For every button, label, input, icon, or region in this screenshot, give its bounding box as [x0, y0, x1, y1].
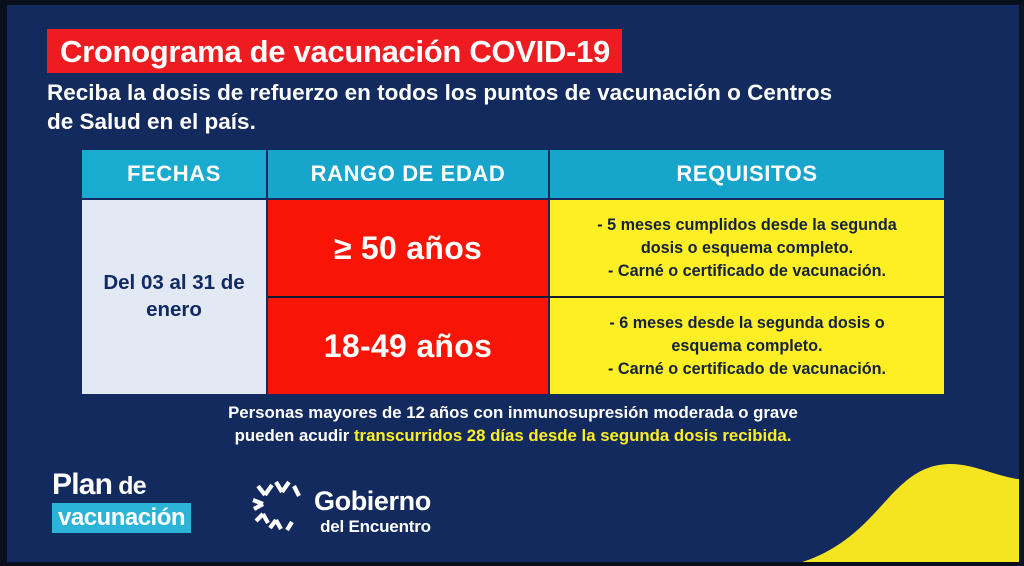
footer-note-line-1: Personas mayores de 12 años con inmunosu… [82, 402, 944, 425]
logo-plan-word-plan: Plan [52, 468, 112, 501]
logo-plan-line-1: Plan de [52, 470, 191, 500]
yellow-blob-decoration [784, 436, 1024, 566]
requirement-line: - Carné o certificado de vacunación. [608, 358, 886, 381]
dates-cell: Del 03 al 31 de enero [82, 200, 266, 394]
page-title: Cronograma de vacunación COVID-19 [60, 36, 610, 67]
image-edge-left [0, 0, 7, 566]
table-rows-container: ≥ 50 años - 5 meses cumplidos desde la s… [268, 200, 944, 394]
subtitle-text: Reciba la dosis de refuerzo en todos los… [47, 79, 857, 137]
age-range-cell: ≥ 50 años [268, 200, 548, 296]
table-row: 18-49 años - 6 meses desde la segunda do… [268, 296, 944, 394]
footer-note-plain: pueden acudir [235, 426, 354, 445]
sunburst-icon [250, 476, 308, 538]
image-edge-top [0, 0, 1024, 5]
table-row: ≥ 50 años - 5 meses cumplidos desde la s… [268, 200, 944, 296]
table-header-row: FECHAS RANGO DE EDAD REQUISITOS [82, 150, 944, 198]
logo-gobierno-text: Gobierno del Encuentro [314, 474, 431, 535]
footer-note-line-2: pueden acudir transcurridos 28 días desd… [82, 425, 944, 448]
column-header-rango-de-edad: RANGO DE EDAD [268, 150, 548, 198]
column-header-requisitos: REQUISITOS [550, 150, 944, 198]
logo-gobierno-line-1: Gobierno [314, 488, 431, 515]
column-header-fechas: FECHAS [82, 150, 266, 198]
dates-cell-text: Del 03 al 31 de enero [82, 270, 266, 323]
requirement-line: esquema completo. [671, 335, 822, 358]
requirement-line: - 6 meses desde la segunda dosis o [609, 312, 884, 335]
footer-note: Personas mayores de 12 años con inmunosu… [82, 402, 944, 447]
requirements-cell: - 5 meses cumplidos desde la segunda dos… [550, 200, 944, 296]
title-banner: Cronograma de vacunación COVID-19 [47, 29, 622, 73]
requirements-cell: - 6 meses desde la segunda dosis o esque… [550, 298, 944, 394]
poster-canvas: Cronograma de vacunación COVID-19 Reciba… [0, 0, 1024, 566]
requirement-line: dosis o esquema completo. [641, 237, 853, 260]
table-body: Del 03 al 31 de enero ≥ 50 años - 5 mese… [82, 200, 944, 394]
age-range-cell: 18-49 años [268, 298, 548, 394]
logo-gobierno-line-2: del Encuentro [314, 518, 431, 535]
logo-plan-line-2: vacunación [52, 503, 191, 533]
logo-plan-word-de: de [112, 472, 146, 500]
logo-plan-de-vacunacion: Plan de vacunación [52, 470, 191, 533]
schedule-table: FECHAS RANGO DE EDAD REQUISITOS Del 03 a… [82, 150, 944, 394]
requirement-line: - Carné o certificado de vacunación. [608, 260, 886, 283]
footer-note-highlight: transcurridos 28 días desde la segunda d… [354, 426, 791, 445]
requirement-line: - 5 meses cumplidos desde la segunda [597, 214, 897, 237]
image-edge-right [1019, 0, 1024, 566]
logo-gobierno-del-encuentro: Gobierno del Encuentro [250, 474, 431, 538]
image-edge-bottom [0, 562, 1024, 566]
